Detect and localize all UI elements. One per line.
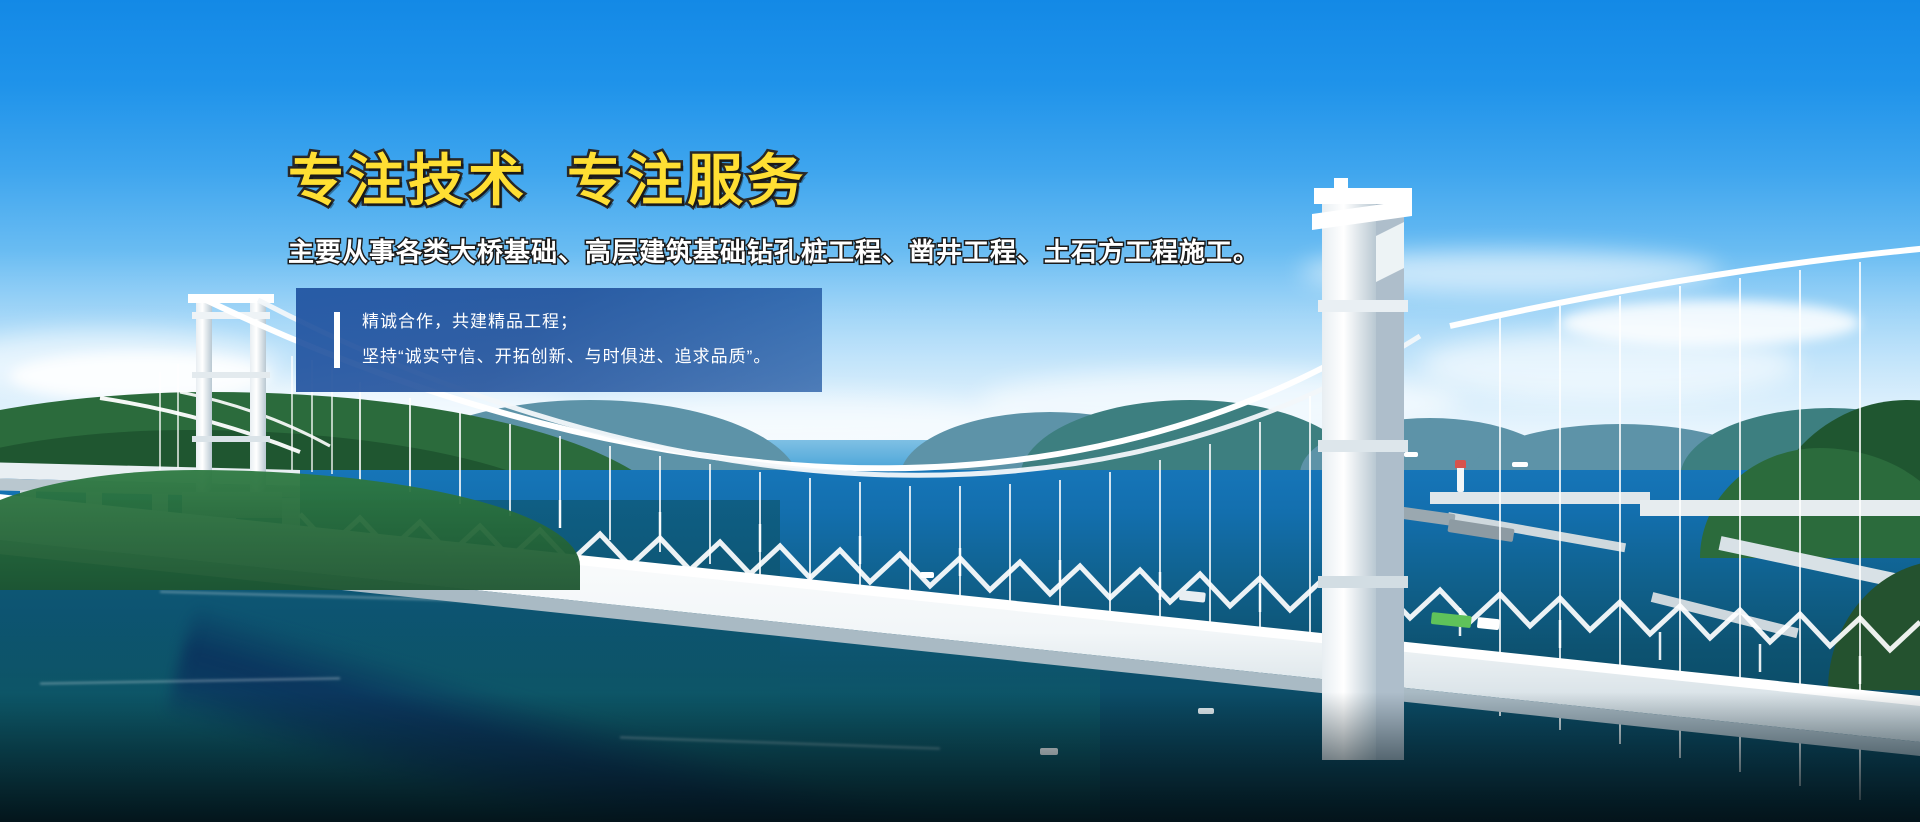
slogan-accent-bar bbox=[334, 312, 340, 368]
slogan-panel: 精诚合作，共建精品工程； 坚持“诚实守信、开拓创新、与时俱进、追求品质”。 bbox=[296, 288, 822, 392]
boat-icon bbox=[1404, 452, 1418, 457]
banner-headline: 专注技术 专注服务 bbox=[288, 150, 1488, 212]
hero-banner: 专注技术 专注服务 主要从事各类大桥基础、高层建筑基础钻孔桩工程、凿井工程、土石… bbox=[0, 0, 1920, 822]
slogan-line-2: 坚持“诚实守信、开拓创新、与时俱进、追求品质”。 bbox=[362, 340, 771, 375]
banner-subheadline: 主要从事各类大桥基础、高层建筑基础钻孔桩工程、凿井工程、土石方工程施工。 bbox=[288, 232, 1488, 269]
pier bbox=[1430, 492, 1650, 504]
boat-icon bbox=[1512, 462, 1528, 467]
boat-icon bbox=[920, 572, 934, 578]
banner-text-block: 专注技术 专注服务 主要从事各类大桥基础、高层建筑基础钻孔桩工程、凿井工程、土石… bbox=[288, 150, 1488, 269]
lighthouse-icon bbox=[1457, 466, 1464, 492]
pier bbox=[1640, 500, 1920, 516]
slogan-lines: 精诚合作，共建精品工程； 坚持“诚实守信、开拓创新、与时俱进、追求品质”。 bbox=[362, 305, 771, 375]
slogan-line-1: 精诚合作，共建精品工程； bbox=[362, 305, 771, 340]
lighthouse-lamp-icon bbox=[1455, 460, 1466, 468]
boat-icon bbox=[862, 604, 880, 611]
bottom-vignette bbox=[0, 692, 1920, 822]
